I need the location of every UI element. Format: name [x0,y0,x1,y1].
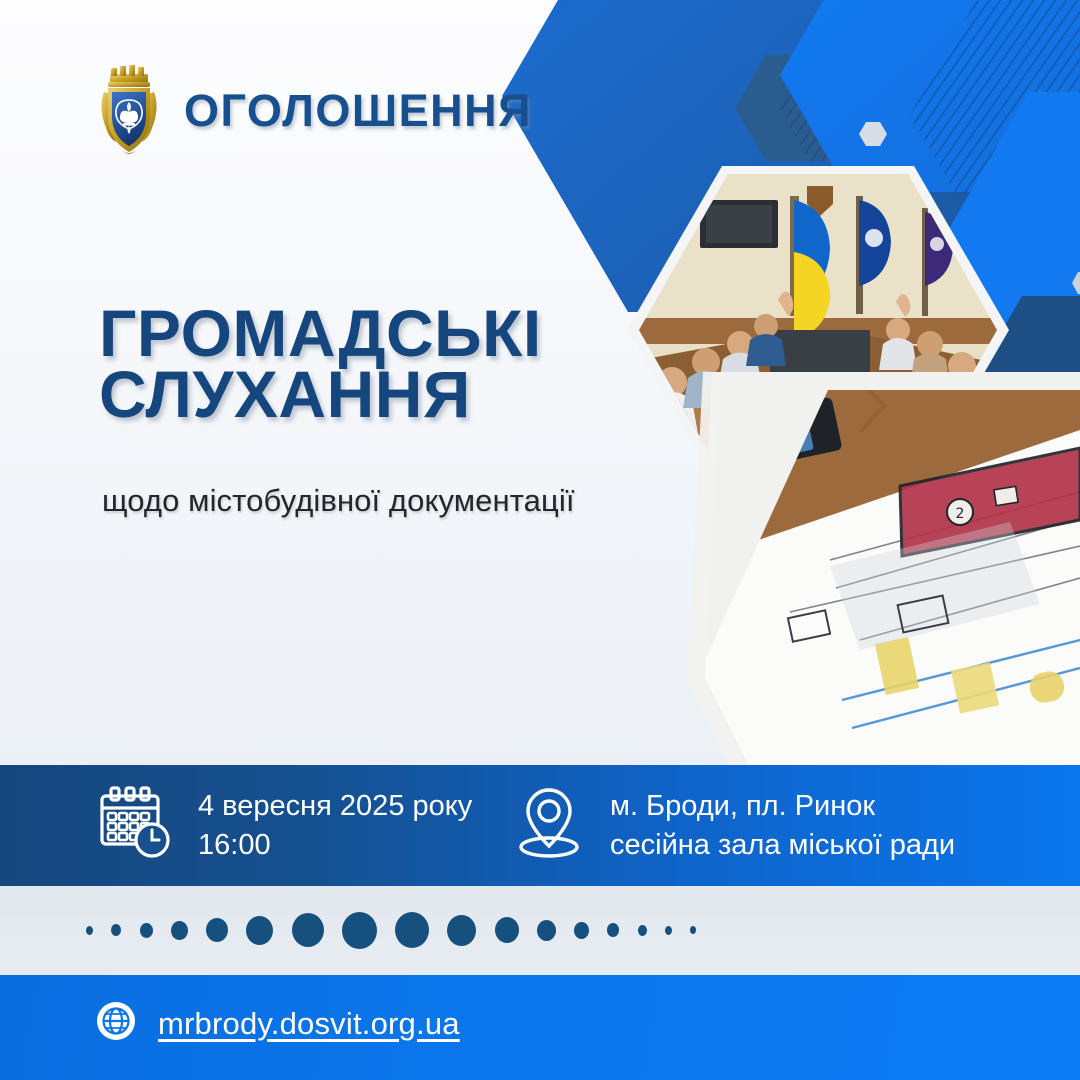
event-date-text: 4 вересня 2025 року 16:00 [198,787,472,865]
event-info-band: 4 вересня 2025 року 16:00 м. Броди, пл. … [0,765,1080,886]
headline-line-2: СЛУХАННЯ [99,364,542,425]
decor-dot [495,917,519,943]
decor-dot [395,912,429,948]
event-date-group: 4 вересня 2025 року 16:00 [96,784,472,867]
dots-row [86,908,696,952]
decor-dot [292,913,324,947]
page-title: ОГОЛОШЕННЯ [184,88,532,133]
event-place-line-1: м. Броди, пл. Ринок [610,787,955,826]
brody-coat-of-arms-icon [96,62,162,158]
decor-dot [447,915,476,946]
decor-dot [537,920,556,941]
decor-dot [342,912,377,949]
svg-text:2: 2 [956,506,965,522]
event-date-line-1: 4 вересня 2025 року [198,787,472,826]
website-link[interactable]: mrbrody.dosvit.org.ua [158,1006,460,1042]
globe-icon [96,1001,136,1046]
decor-dot [638,925,647,936]
decor-dot [86,926,93,935]
headline-line-1: ГРОМАДСЬКІ [99,303,542,364]
website-row: mrbrody.dosvit.org.ua [96,1001,460,1046]
event-place-text: м. Броди, пл. Ринок сесійна зала міської… [610,787,955,865]
dots-decoration-band [0,886,1080,975]
decor-dot [607,923,619,937]
poster-header: ОГОЛОШЕННЯ [96,62,532,158]
subheadline: щодо містобудівної документації [102,483,575,519]
decor-dot [111,924,121,936]
event-time-line-2: 16:00 [198,826,472,865]
decor-dot [206,918,228,942]
map-pin-icon [512,784,586,867]
website-band: mrbrody.dosvit.org.ua [0,975,1080,1080]
decor-dot [665,926,672,935]
calendar-clock-icon [96,784,174,867]
decor-dot [574,922,589,939]
announcement-poster: 2 [0,0,1080,1080]
decor-dot [246,916,273,945]
event-place-group: м. Броди, пл. Ринок сесійна зала міської… [512,784,955,867]
headline: ГРОМАДСЬКІ СЛУХАННЯ [99,303,542,426]
event-place-line-2: сесійна зала міської ради [610,826,955,865]
decor-dot [140,923,153,938]
decor-dot [171,921,188,940]
decor-dot [690,926,696,934]
